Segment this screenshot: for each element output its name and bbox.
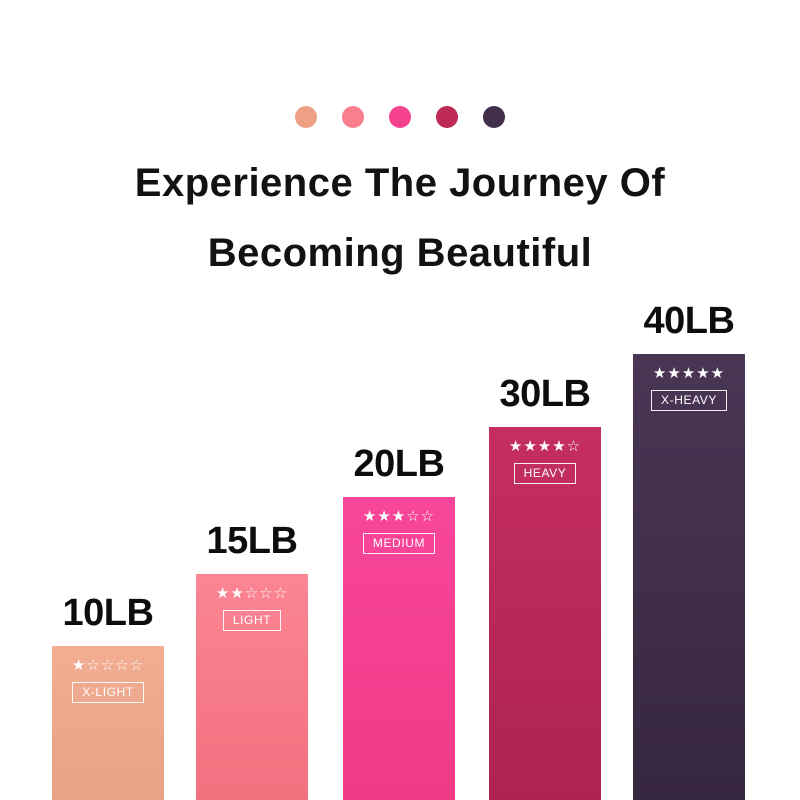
resistance-level-tag: LIGHT	[223, 610, 281, 631]
resistance-level-tag: X-HEAVY	[651, 390, 727, 411]
star-rating: ★☆☆☆☆	[72, 658, 144, 673]
star-rating: ★★★★★	[653, 366, 725, 381]
bar-20lb: ★★★☆☆MEDIUM	[343, 497, 455, 800]
bar-value-label: 40LB	[644, 302, 735, 340]
bar-15lb: ★★☆☆☆LIGHT	[196, 574, 308, 800]
bar-value-label: 10LB	[63, 594, 154, 632]
bar-chart: 10LB★☆☆☆☆X-LIGHT15LB★★☆☆☆LIGHT20LB★★★☆☆M…	[0, 0, 800, 800]
bar-30lb: ★★★★☆HEAVY	[489, 427, 601, 800]
resistance-level-tag: MEDIUM	[363, 533, 435, 554]
bar-value-label: 30LB	[500, 375, 591, 413]
resistance-band-chart-poster: Experience The Journey Of Becoming Beaut…	[0, 0, 800, 800]
star-rating: ★★★★☆	[509, 439, 581, 454]
star-rating: ★★☆☆☆	[216, 586, 288, 601]
star-rating: ★★★☆☆	[363, 509, 435, 524]
bar-column-20lb: 20LB★★★☆☆MEDIUM	[343, 437, 455, 800]
resistance-level-tag: X-LIGHT	[72, 682, 144, 703]
bar-value-label: 15LB	[207, 522, 298, 560]
bar-column-15lb: 15LB★★☆☆☆LIGHT	[196, 514, 308, 800]
bar-10lb: ★☆☆☆☆X-LIGHT	[52, 646, 164, 800]
bar-column-40lb: 40LB★★★★★X-HEAVY	[633, 294, 745, 800]
resistance-level-tag: HEAVY	[514, 463, 577, 484]
bar-column-10lb: 10LB★☆☆☆☆X-LIGHT	[52, 586, 164, 800]
bar-value-label: 20LB	[354, 445, 445, 483]
bar-column-30lb: 30LB★★★★☆HEAVY	[489, 367, 601, 800]
bar-40lb: ★★★★★X-HEAVY	[633, 354, 745, 800]
